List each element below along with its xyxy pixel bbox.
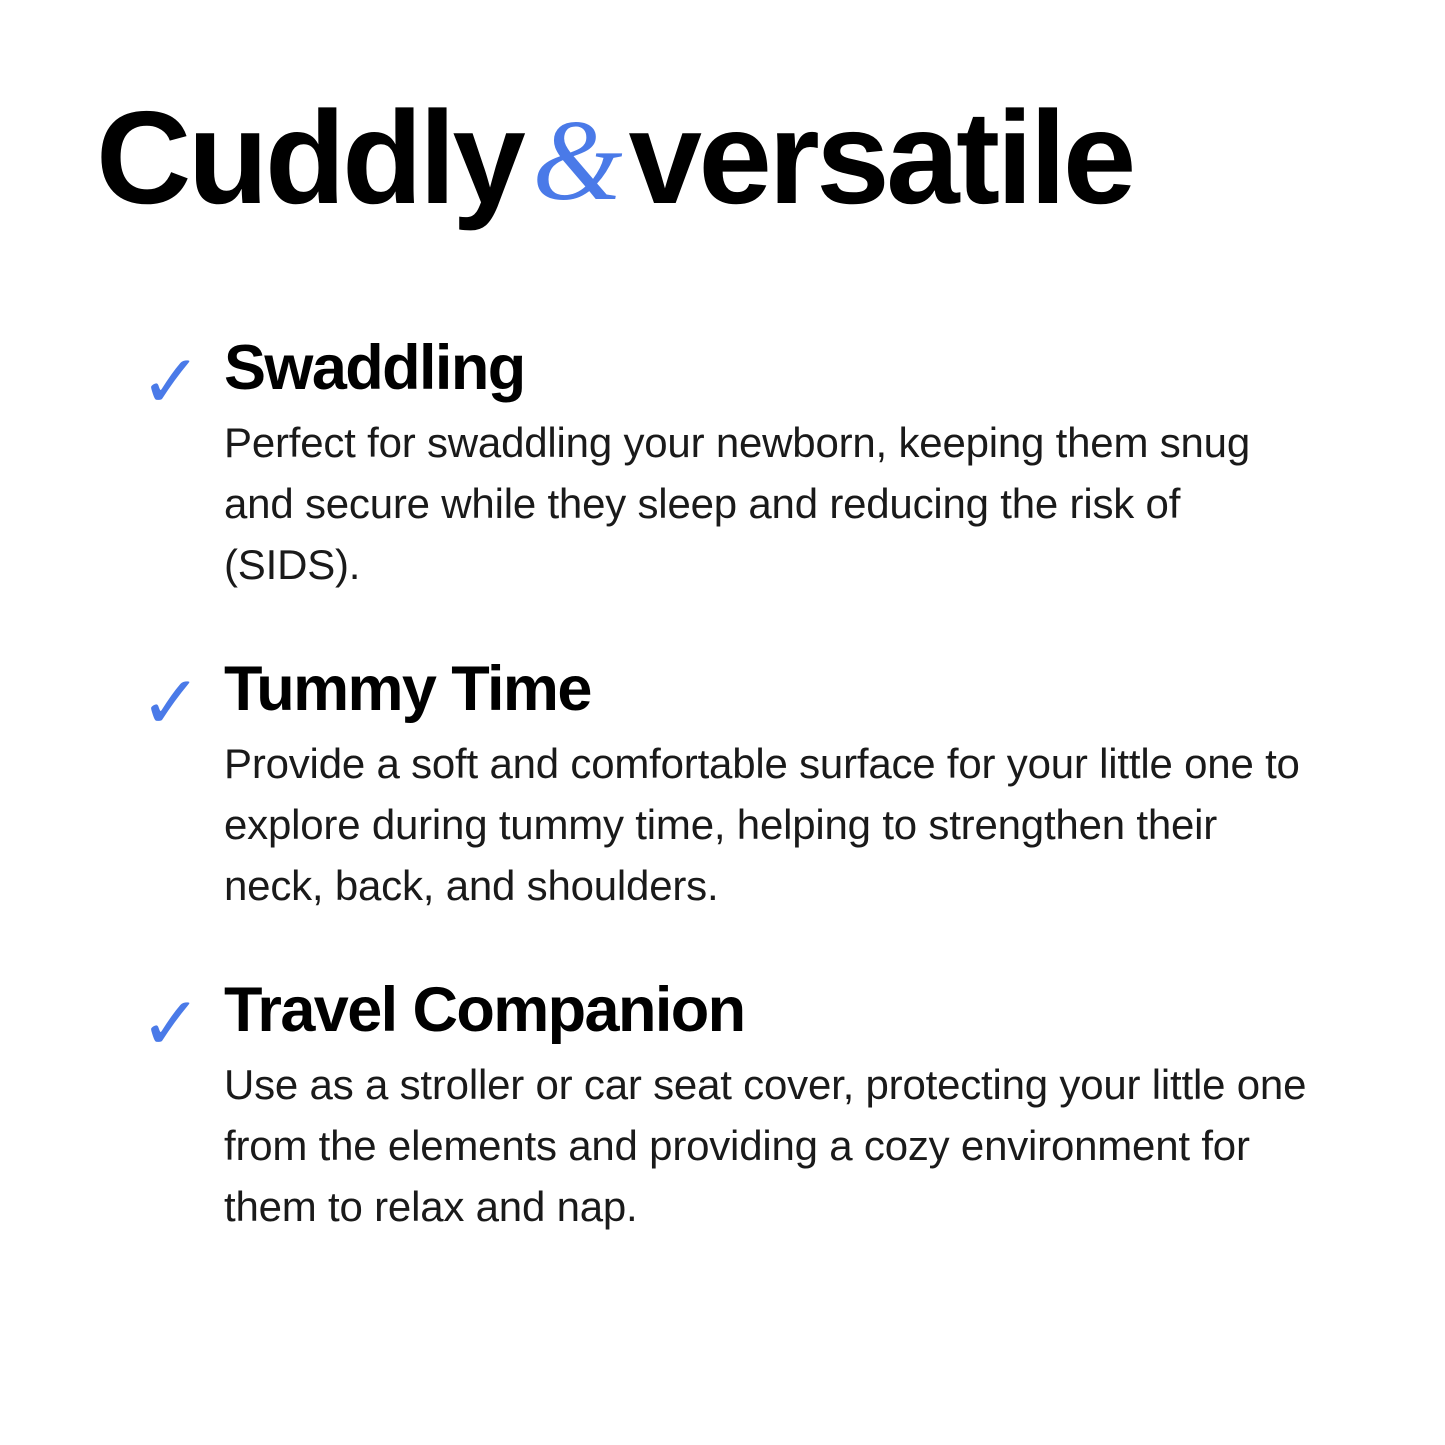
feature-heading: Travel Companion — [224, 972, 1309, 1048]
feature-item-travel-companion: ✓ Travel Companion Use as a stroller or … — [140, 972, 1360, 1237]
ampersand-accent: & — [522, 103, 628, 219]
feature-description: Use as a stroller or car seat cover, pro… — [224, 1054, 1309, 1237]
check-icon: ✓ — [140, 655, 224, 751]
check-icon: ✓ — [140, 334, 224, 430]
page-title-part-one: Cuddly — [96, 84, 522, 231]
feature-body: Tummy Time Provide a soft and comfortabl… — [224, 651, 1309, 916]
feature-item-tummy-time: ✓ Tummy Time Provide a soft and comforta… — [140, 651, 1360, 916]
feature-heading: Swaddling — [224, 330, 1309, 406]
page-title-part-two: versatile — [629, 84, 1133, 231]
feature-description: Provide a soft and comfortable surface f… — [224, 733, 1309, 916]
feature-list: ✓ Swaddling Perfect for swaddling your n… — [140, 330, 1360, 1237]
feature-item-swaddling: ✓ Swaddling Perfect for swaddling your n… — [140, 330, 1360, 595]
check-icon: ✓ — [140, 976, 224, 1072]
page-title-container: Cuddly&versatile — [96, 92, 1356, 224]
page-title: Cuddly&versatile — [96, 92, 1356, 224]
feature-card: Cuddly&versatile ✓ Swaddling Perfect for… — [0, 0, 1445, 1445]
feature-body: Swaddling Perfect for swaddling your new… — [224, 330, 1309, 595]
feature-body: Travel Companion Use as a stroller or ca… — [224, 972, 1309, 1237]
feature-description: Perfect for swaddling your newborn, keep… — [224, 412, 1309, 595]
feature-heading: Tummy Time — [224, 651, 1309, 727]
